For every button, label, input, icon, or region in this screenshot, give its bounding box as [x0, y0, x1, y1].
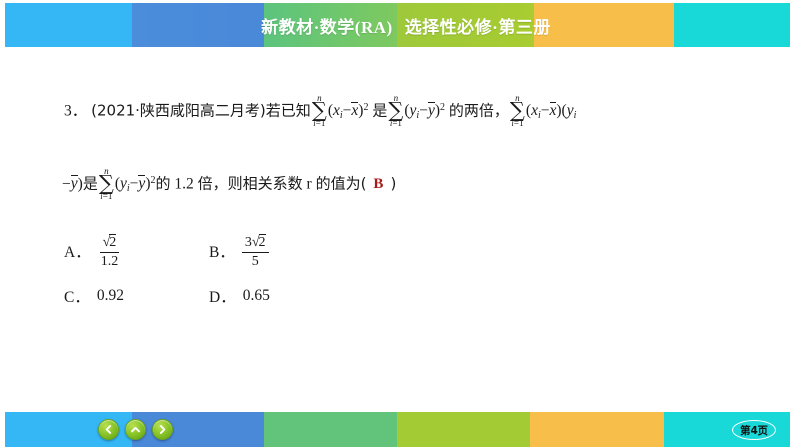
expr-3-sub2: i	[574, 110, 577, 121]
chevron-left-icon	[103, 424, 114, 435]
slide-content: 3． (2021·陕西咸阳高二月考)若已知n∑i=1(xi−x)2 是n∑i=1…	[0, 47, 794, 400]
question-line-1: 3． (2021·陕西咸阳高二月考)若已知n∑i=1(xi−x)2 是n∑i=1…	[64, 95, 576, 129]
question-stem-e: 的	[155, 174, 170, 192]
summation-2-lower-eq: =1	[392, 118, 402, 128]
question-stem-g: 的值为(	[316, 174, 367, 192]
expr-3: (xi−x)(yi	[526, 102, 576, 119]
expr-2-pow: 2	[440, 102, 445, 113]
expr-3-var: x	[531, 102, 538, 119]
options-row-2: C． 0.92 D． 0.65	[64, 281, 564, 311]
option-d[interactable]: D． 0.65	[209, 285, 270, 307]
option-b-coefficient: 3	[245, 235, 252, 250]
header-title-sub: 选择性必修·第三册	[405, 13, 551, 38]
footer-band-5	[530, 412, 664, 447]
option-d-label: D．	[209, 285, 236, 307]
header-title-main: 新教材·数学(RA)	[261, 13, 393, 38]
option-d-value: 0.65	[243, 287, 270, 305]
expr-4-var: y	[120, 175, 127, 192]
footer-left-margin	[0, 412, 5, 447]
question-stem-c: 的两倍，	[449, 101, 509, 119]
question-stem-h: )	[390, 174, 396, 192]
expr-2: (yi−y)2	[404, 102, 445, 119]
chevron-right-icon	[157, 424, 168, 435]
summation-2: n∑i=1	[388, 94, 403, 128]
expr-1: (xi−x)2	[328, 102, 369, 119]
question-number: 3．	[64, 102, 87, 119]
option-a-numerator: √2	[100, 234, 120, 253]
summation-2-lower: i=1	[390, 119, 402, 128]
option-b-label: B．	[209, 240, 235, 262]
summation-4: n∑i=1	[99, 167, 114, 201]
footer-band-4	[397, 412, 530, 447]
summation-3-lower-eq: =1	[514, 118, 524, 128]
option-b-radical: √2	[252, 234, 266, 251]
expr-2-minus: −	[419, 102, 428, 119]
expr-1-pow: 2	[363, 102, 368, 113]
question-stem-f: 倍，则相关系数	[198, 174, 303, 192]
option-b-fraction: 3√2 5	[242, 234, 269, 269]
question-line-2: −y)是n∑i=1(yi−y)2的 1.2 倍，则相关系数 r 的值为(B)	[62, 168, 396, 202]
option-a-label: A．	[64, 240, 91, 262]
summation-4-lower: i=1	[100, 192, 112, 201]
answer-key: B	[366, 176, 390, 192]
option-a-radical: √2	[103, 234, 117, 251]
options-row-1: A． √2 1.2 B． 3√2 5	[64, 233, 564, 281]
expr-3-mid: )(	[556, 102, 566, 119]
expr-2-bar: y	[428, 102, 435, 119]
slide-header: 新教材·数学(RA) 选择性必修·第三册	[0, 0, 794, 47]
question-stem-b: 是	[372, 101, 387, 119]
option-c-value: 0.92	[97, 287, 124, 305]
summation-4-lower-eq: =1	[103, 191, 113, 201]
options-list: A． √2 1.2 B． 3√2 5 C． 0.92 D． 0	[64, 233, 564, 311]
summation-3-lower: i=1	[511, 119, 523, 128]
line2-bar: y	[71, 175, 78, 192]
line2-minus: −	[62, 175, 71, 192]
summation-1: n∑i=1	[312, 94, 327, 128]
option-b[interactable]: B． 3√2 5	[209, 233, 269, 268]
expr-3-minus: −	[541, 102, 550, 119]
option-b-numerator: 3√2	[242, 234, 269, 253]
prev-slide-button[interactable]	[98, 419, 119, 440]
expr-1-var: x	[333, 102, 340, 119]
footer-right-margin	[790, 412, 794, 447]
chevron-up-icon	[130, 424, 141, 435]
question-r-var: r	[307, 175, 312, 192]
option-c[interactable]: C． 0.92	[64, 285, 209, 307]
navigation-buttons	[98, 419, 173, 440]
summation-1-lower-eq: =1	[316, 118, 326, 128]
question-factor: 1.2	[174, 175, 193, 192]
option-a[interactable]: A． √2 1.2	[64, 233, 209, 268]
footer-band-3	[264, 412, 397, 447]
option-a-fraction: √2 1.2	[98, 234, 122, 269]
expr-3-var2: y	[567, 102, 574, 119]
option-b-denominator: 5	[249, 253, 262, 270]
option-a-denominator: 1.2	[98, 253, 122, 270]
summation-3: n∑i=1	[510, 94, 525, 128]
question-source: (2021·陕西咸阳高二月考)	[91, 101, 266, 119]
question-stem-d: 是	[83, 174, 98, 192]
summation-1-lower: i=1	[313, 119, 325, 128]
home-slide-button[interactable]	[125, 419, 146, 440]
expr-4: (yi−y)2	[115, 175, 156, 192]
next-slide-button[interactable]	[152, 419, 173, 440]
question-stem-a: 若已知	[266, 101, 311, 119]
option-c-label: C．	[64, 285, 90, 307]
option-b-radicand: 2	[259, 234, 266, 251]
header-title: 新教材·数学(RA) 选择性必修·第三册	[0, 3, 794, 47]
page-number-badge: 第4页	[732, 420, 776, 440]
option-a-radicand: 2	[109, 234, 116, 251]
